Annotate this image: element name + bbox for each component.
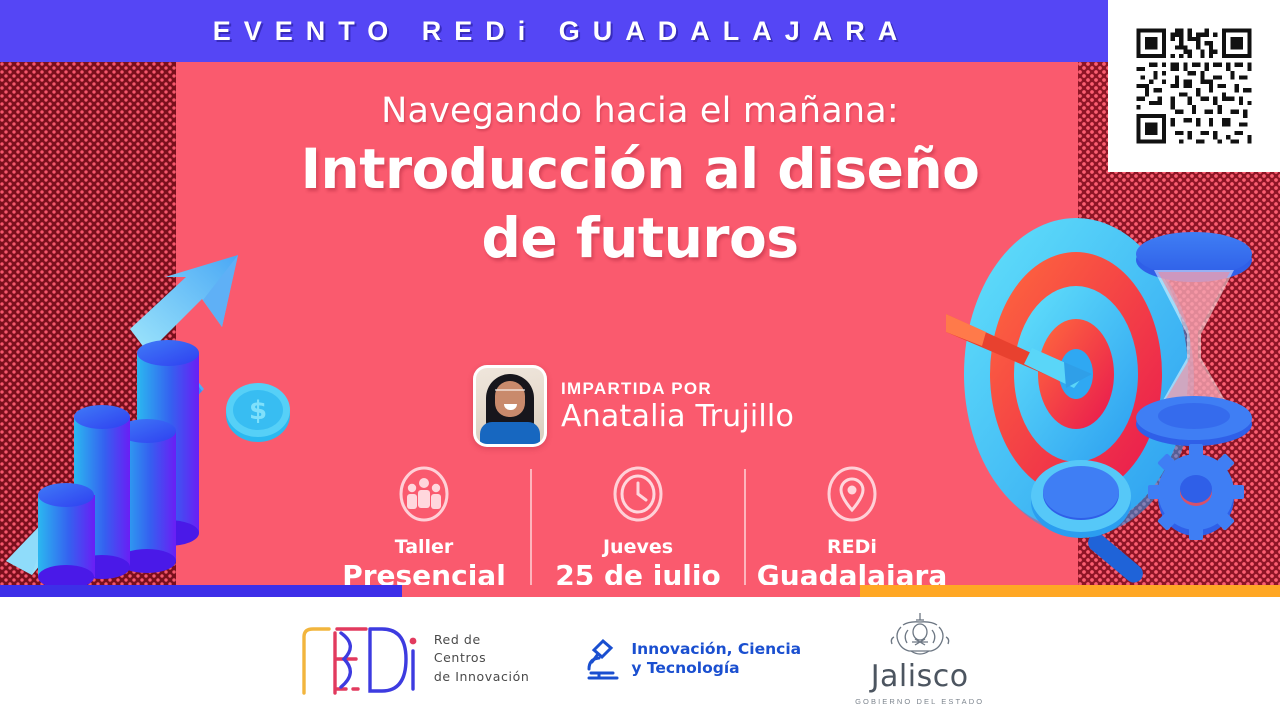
avatar <box>473 365 547 447</box>
speaker-name: Anatalia Trujillo <box>561 402 794 432</box>
redi-text-line1: Red de <box>434 631 530 649</box>
redi-text-line3: de Innovación <box>434 668 530 686</box>
gear-icon <box>1148 444 1244 540</box>
redi-text-line2: Centros <box>434 649 530 667</box>
logo-innovacion-ciencia-tecnologia: Innovación, Ciencia y Tecnología <box>583 635 801 683</box>
microscope-icon <box>583 635 621 683</box>
title-kicker: Navegando hacia el mañana: <box>240 92 1040 131</box>
jalisco-coat-of-arms-icon <box>881 611 959 661</box>
dollar-coin-icon: $ <box>226 383 290 442</box>
ict-logo-text: Innovación, Ciencia y Tecnología <box>631 640 801 677</box>
jalisco-wordmark: Jalisco <box>871 662 969 692</box>
qr-code-card[interactable] <box>1108 0 1280 172</box>
title-block: Navegando hacia el mañana: Introducción … <box>240 92 1040 270</box>
event-poster: EVENTO REDi GUADALAJARA <box>0 0 1280 720</box>
qr-code-icon[interactable] <box>1132 24 1256 148</box>
event-info-row: Taller Presencial Jueves 25 de julio 10:… <box>318 465 958 597</box>
info-place-small: REDi <box>827 537 877 559</box>
top-banner: EVENTO REDi GUADALAJARA <box>0 0 1280 62</box>
people-group-icon <box>398 465 450 523</box>
logo-jalisco: Jalisco GOBIERNO DEL ESTADO <box>855 611 984 706</box>
jalisco-subtitle: GOBIERNO DEL ESTADO <box>855 697 984 706</box>
logo-redi: Red de Centros de Innovación <box>296 621 530 697</box>
info-date-small: Jueves <box>603 537 673 559</box>
info-modality-small: Taller <box>395 537 454 559</box>
ict-text-line2: y Tecnología <box>631 659 801 678</box>
poster-stage: $ <box>0 62 1280 597</box>
title-headline-line2: de futuros <box>240 208 1040 270</box>
speaker-photo <box>476 368 544 444</box>
clock-icon <box>612 465 664 523</box>
footer-logo-bar: Red de Centros de Innovación Innovación,… <box>0 597 1280 720</box>
info-col-place: REDi Guadalajara <box>746 465 958 592</box>
svg-text:$: $ <box>249 396 267 426</box>
speaker-block: IMPARTIDA POR Anatalia Trujillo <box>473 365 794 447</box>
bottom-accent-bar <box>0 585 1280 597</box>
info-col-modality: Taller Presencial <box>318 465 530 592</box>
location-pin-icon <box>826 465 878 523</box>
bar-1 <box>38 483 95 589</box>
accent-segment-orange <box>860 585 1280 597</box>
accent-segment-pink <box>402 585 860 597</box>
ict-text-line1: Innovación, Ciencia <box>631 640 801 659</box>
top-banner-text: EVENTO REDi GUADALAJARA <box>0 0 1110 62</box>
info-col-date: Jueves 25 de julio 10:00-13:00h <box>532 465 744 597</box>
accent-segment-blue <box>0 585 402 597</box>
title-headline-line1: Introducción al diseño <box>240 139 1040 201</box>
speaker-label: IMPARTIDA POR <box>561 380 794 397</box>
redi-logo-mark <box>296 621 424 697</box>
redi-logo-text: Red de Centros de Innovación <box>434 631 530 685</box>
